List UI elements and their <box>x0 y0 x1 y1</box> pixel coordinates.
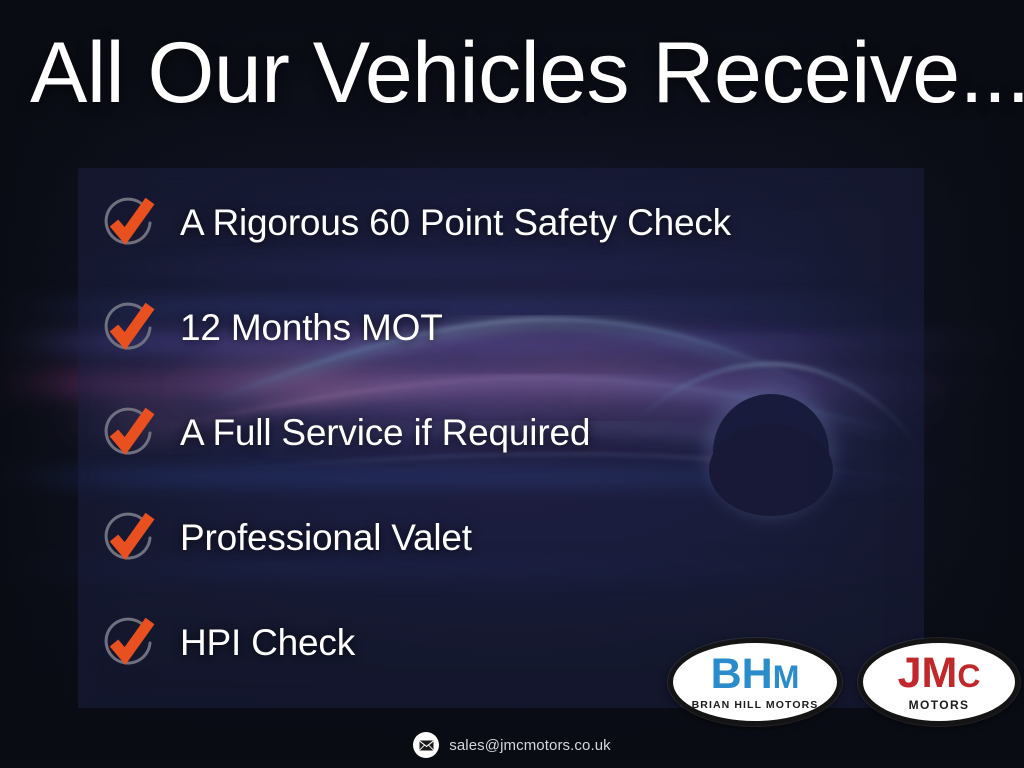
list-item-label: Professional Valet <box>180 517 472 559</box>
bhm-logo: B H M BRIAN HILL MOTORS <box>668 638 842 726</box>
list-item: 12 Months MOT <box>98 297 443 359</box>
jmc-logo-initials: J M C <box>898 652 981 695</box>
feature-list: A Rigorous 60 Point Safety Check 12 Mont… <box>78 168 924 708</box>
jmc-logo-subtitle: MOTORS <box>909 698 970 712</box>
check-circle-icon <box>98 507 160 569</box>
list-item: A Full Service if Required <box>98 402 590 464</box>
logo-group: B H M BRIAN HILL MOTORS J M C MOTORS <box>668 638 1020 726</box>
list-item-label: A Full Service if Required <box>180 412 590 454</box>
list-item-label: HPI Check <box>180 622 355 664</box>
bhm-logo-subtitle: BRIAN HILL MOTORS <box>692 699 819 711</box>
page-title: All Our Vehicles Receive... <box>30 28 1024 118</box>
jmc-letter-m: M <box>921 652 957 695</box>
bhm-letter-b: B <box>711 653 742 696</box>
jmc-letter-c: C <box>957 660 980 692</box>
envelope-icon <box>413 732 439 758</box>
contact-footer: sales@jmcmotors.co.uk <box>0 732 1024 758</box>
check-circle-icon <box>98 612 160 674</box>
list-item-label: A Rigorous 60 Point Safety Check <box>180 202 731 244</box>
check-circle-icon <box>98 402 160 464</box>
bhm-logo-initials: B H M <box>711 653 800 696</box>
list-item-label: 12 Months MOT <box>180 307 443 349</box>
check-circle-icon <box>98 192 160 254</box>
check-circle-icon <box>98 297 160 359</box>
bhm-letter-m: M <box>773 661 800 693</box>
list-item: A Rigorous 60 Point Safety Check <box>98 192 731 254</box>
slide-canvas: All Our Vehicles Receive... A Rigorous 6… <box>0 0 1024 768</box>
jmc-logo: J M C MOTORS <box>858 638 1020 726</box>
bhm-letter-h: H <box>742 653 773 696</box>
list-item: HPI Check <box>98 612 355 674</box>
contact-email: sales@jmcmotors.co.uk <box>449 737 611 754</box>
jmc-letter-j: J <box>898 652 922 695</box>
list-item: Professional Valet <box>98 507 472 569</box>
